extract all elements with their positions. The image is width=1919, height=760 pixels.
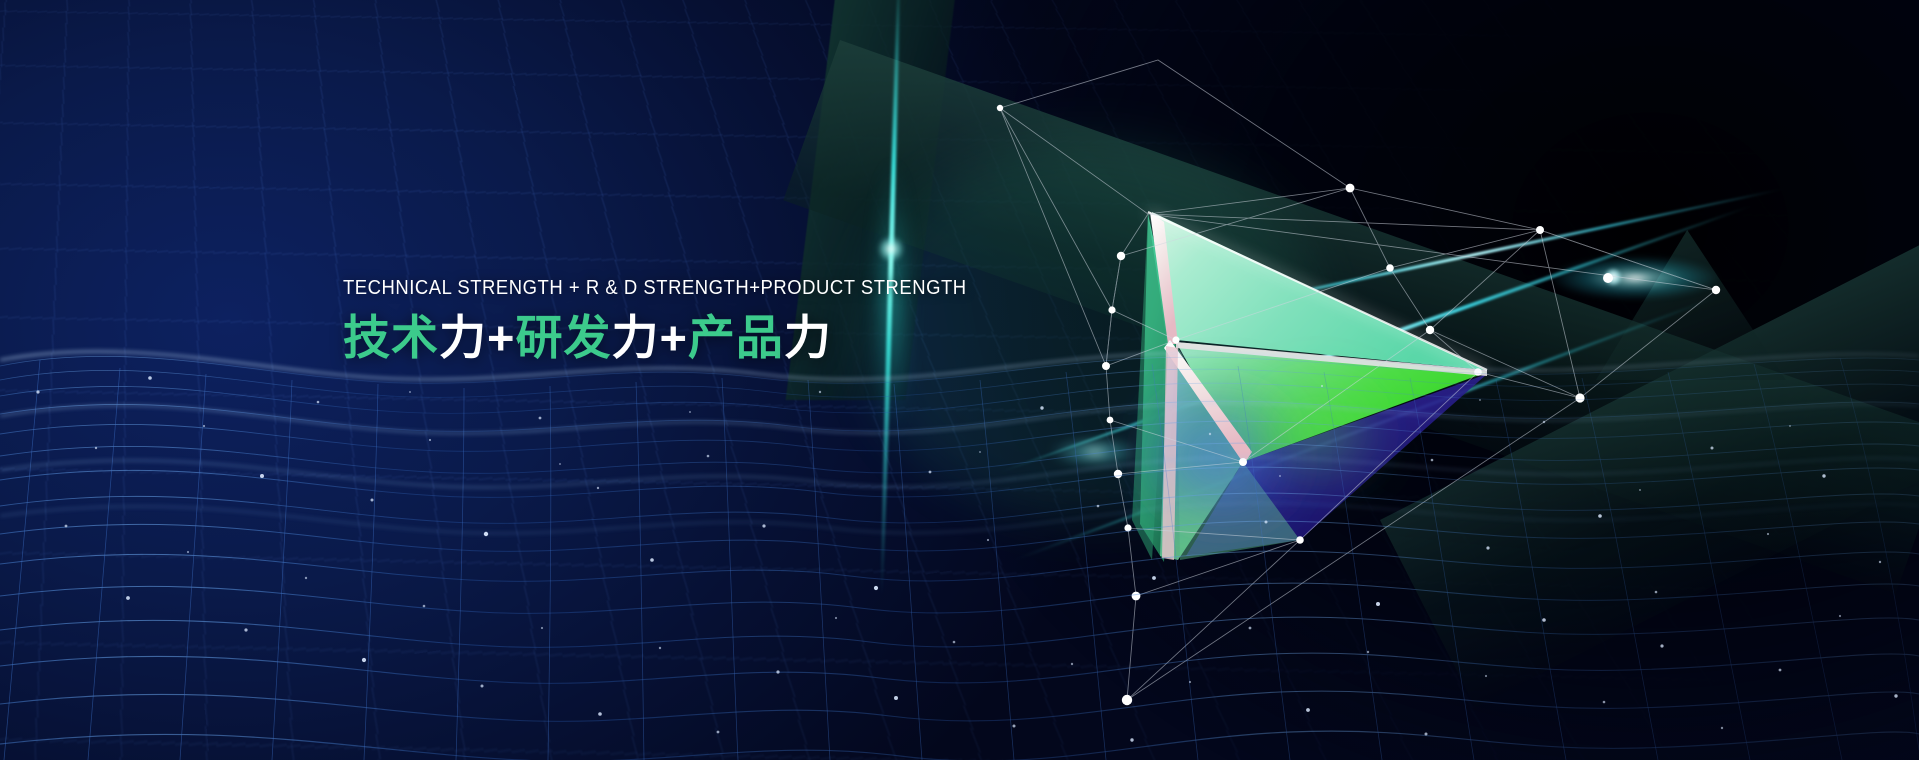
headline-seg-0: 技术	[343, 311, 439, 364]
particle-dots	[0, 330, 1919, 760]
headline-seg-4: 力	[611, 311, 659, 364]
headline-seg-7: 力	[784, 311, 832, 364]
headline-seg-1: 力	[439, 311, 487, 364]
headline-seg-5: +	[659, 311, 687, 364]
headline-seg-6: 产品	[688, 311, 784, 364]
banner-headline: 技术力+研发力+产品力	[343, 313, 1043, 364]
banner-text-block: TECHNICAL STRENGTH + R & D STRENGTH+PROD…	[343, 278, 1043, 363]
headline-seg-2: +	[487, 311, 515, 364]
headline-seg-3: 研发	[515, 311, 611, 364]
hero-banner: TECHNICAL STRENGTH + R & D STRENGTH+PROD…	[0, 0, 1919, 760]
banner-eyebrow-text: TECHNICAL STRENGTH + R & D STRENGTH+PROD…	[343, 278, 973, 299]
